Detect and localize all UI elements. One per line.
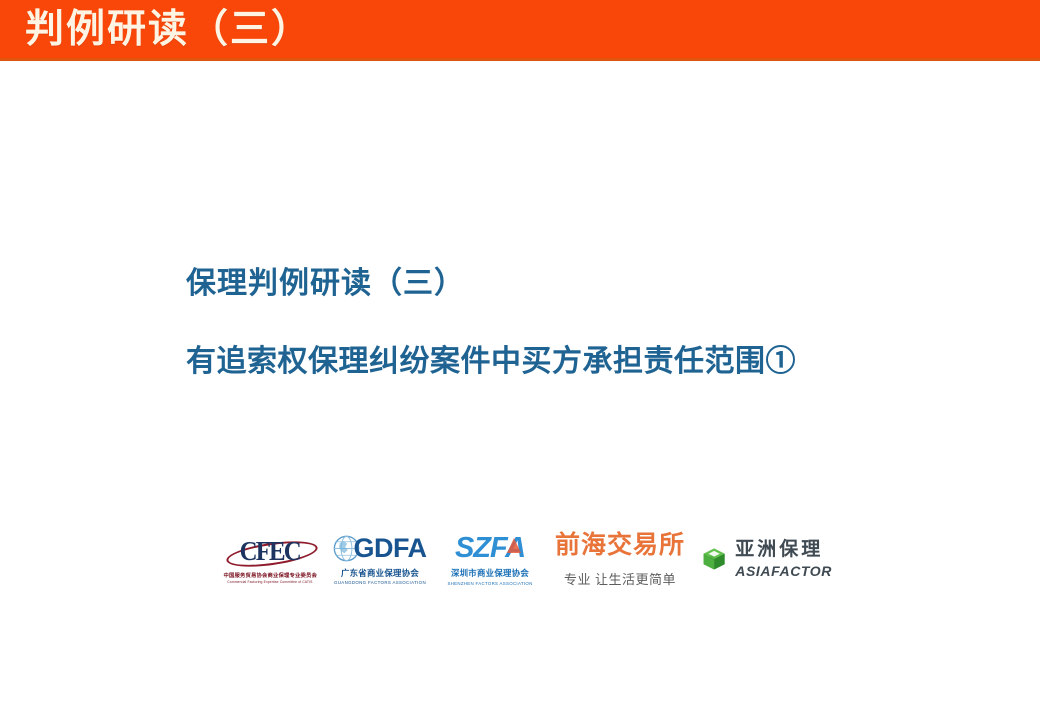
logo-qianhai-exchange: 前海交易所 专业 让生活更简单 (550, 530, 690, 588)
szfa-english-name: SHENZHEN FACTORS ASSOCIATION (447, 581, 532, 586)
logo-cfec: CFEC 中国服务贸易协会商业保理专业委员会 Commercial Factor… (222, 534, 318, 584)
partner-logo-strip: CFEC 中国服务贸易协会商业保理专业委员会 Commercial Factor… (222, 523, 832, 595)
gdfa-english-name: GUANGDONG FACTORS ASSOCIATION (334, 580, 426, 585)
slide-header-bar: 判例研读（三） (0, 0, 1040, 61)
gdfa-chinese-name: 广东省商业保理协会 (341, 567, 419, 579)
asiafactor-chinese-name: 亚洲保理 (735, 539, 823, 561)
gdfa-wordmark: GDFA (353, 533, 426, 564)
logo-gdfa: GDFA 广东省商业保理协会 GUANGDONG FACTORS ASSOCIA… (330, 533, 430, 586)
szfa-emblem-icon: SZFA (455, 532, 525, 564)
slide-subtitle-line-2: 有追索权保理纠纷案件中买方承担责任范围① (186, 342, 946, 382)
qianhai-slogan: 专业 让生活更简单 (564, 569, 676, 588)
cfec-chinese-name: 中国服务贸易协会商业保理专业委员会 (223, 571, 317, 579)
szfa-chinese-name: 深圳市商业保理协会 (451, 567, 529, 579)
logo-asiafactor: 亚洲保理 ASIAFACTOR (702, 536, 832, 582)
cfec-english-name: Commercial Factoring Expertise Committee… (227, 580, 312, 584)
slide-content-area: 保理判例研读（三） 有追索权保理纠纷案件中买方承担责任范围① CFEC 中国服务… (0, 61, 1040, 720)
logo-szfa: SZFA 深圳市商业保理协会 SHENZHEN FACTORS ASSOCIAT… (442, 532, 538, 586)
cfec-wordmark: CFEC (240, 536, 300, 567)
page-title: 判例研读（三） (25, 2, 312, 58)
asiafactor-english-name: ASIAFACTOR (735, 563, 832, 579)
szfa-accent-triangle-icon (507, 538, 521, 553)
cfec-emblem-icon: CFEC (224, 534, 316, 568)
green-cube-icon (702, 536, 726, 582)
qianhai-chinese-name: 前海交易所 (555, 530, 685, 560)
slide-title-block: 保理判例研读（三） 有追索权保理纠纷案件中买方承担责任范围① (186, 264, 946, 382)
slide-subtitle-line-1: 保理判例研读（三） (186, 264, 946, 304)
